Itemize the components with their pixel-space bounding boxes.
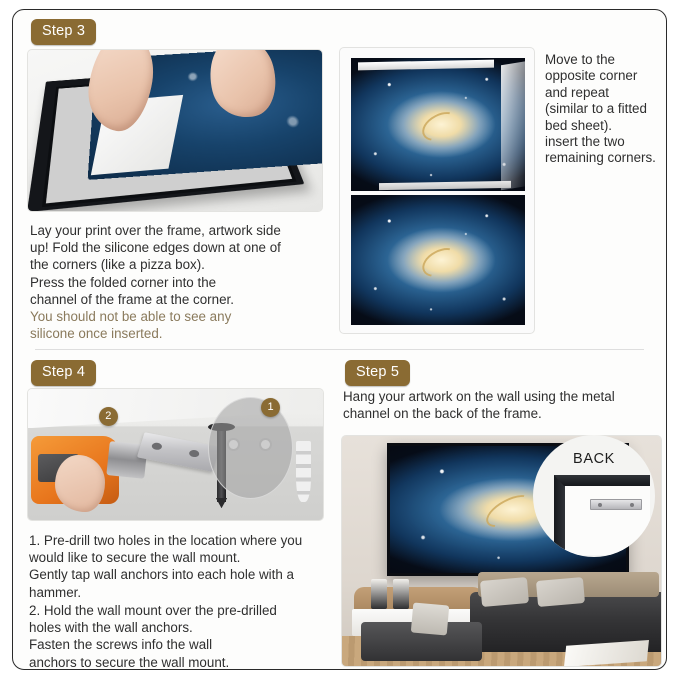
drilled-hole <box>227 438 240 451</box>
galaxy-photo-partial <box>351 58 525 191</box>
step-3-badge: Step 3 <box>31 19 96 45</box>
step-4-instruction-2: 2. Hold the wall mount over the pre-dril… <box>29 602 325 670</box>
back-inset-label: BACK <box>533 451 655 467</box>
step-3-photo-panel <box>339 47 535 334</box>
galaxy-artwork <box>351 195 525 325</box>
step-4-diagram: 1 2 <box>27 388 324 521</box>
decor-vase <box>393 579 409 609</box>
drilled-hole <box>259 438 272 451</box>
step-3-hero-photo <box>27 49 323 212</box>
section-step-3: Step 3 Lay your print over the frame, ar… <box>13 10 667 349</box>
step-5-badge: Step 5 <box>345 360 410 386</box>
section-step-4: Step 4 1 2 1. Pre-drill two holes in the… <box>13 350 337 670</box>
channel-screw-hole <box>630 503 634 507</box>
bracket-hole <box>151 442 163 450</box>
step-3-side-note: Move to the opposite corner and repeat (… <box>545 52 657 167</box>
sofa-cushion <box>480 577 530 607</box>
instruction-sheet: Step 3 Lay your print over the frame, ar… <box>12 9 667 670</box>
step-3-caption-group: Lay your print over the frame, artwork s… <box>30 222 330 342</box>
step-5-instruction: Hang your artwork on the wall using the … <box>343 388 655 422</box>
step-4-badge: Step 4 <box>31 360 96 386</box>
section-step-5: Step 5 Hang your artwork on the wall usi… <box>337 350 667 670</box>
step-4-instruction-1: 1. Pre-drill two holes in the location w… <box>29 532 325 601</box>
galaxy-artwork <box>351 58 525 191</box>
bracket-hole <box>188 449 200 457</box>
galaxy-photo-complete <box>351 195 525 325</box>
channel-screw-hole <box>598 503 602 507</box>
decor-vase <box>371 579 387 609</box>
sofa-cushion <box>536 577 586 607</box>
ottoman-bench <box>361 622 482 661</box>
wall-anchor-icon <box>296 441 311 501</box>
uninserted-corner-flap <box>501 61 525 190</box>
frame-back-detail-inset: BACK <box>533 435 655 557</box>
step-3-caption-highlight: You should not be able to see any silico… <box>30 308 330 342</box>
marker-2-badge: 2 <box>99 407 118 426</box>
frame-back-corner <box>554 475 650 555</box>
metal-channel-bracket <box>590 499 642 510</box>
drilled-holes-callout <box>208 397 294 499</box>
step-3-caption-main: Lay your print over the frame, artwork s… <box>30 222 330 308</box>
